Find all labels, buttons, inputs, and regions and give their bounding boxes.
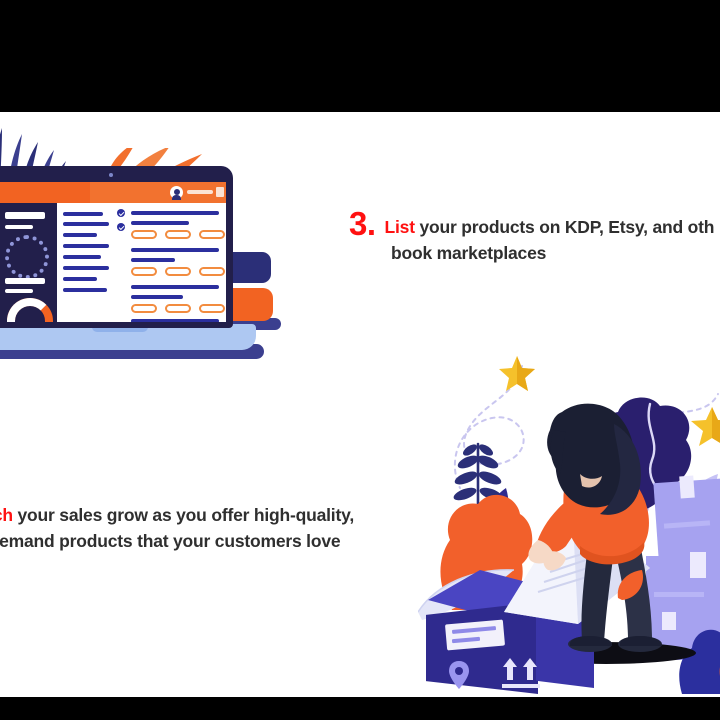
dashboard-sidebar xyxy=(0,203,57,322)
content-label-1 xyxy=(63,212,103,216)
content-chip-1-1[interactable] xyxy=(131,230,157,239)
content-row-2-line-1 xyxy=(131,248,219,252)
content-chip-1-2[interactable] xyxy=(165,230,191,239)
step-line-2-text: book marketplaces xyxy=(391,241,720,266)
content-chip-3-2[interactable] xyxy=(165,304,191,313)
content-label-2 xyxy=(63,222,109,226)
content-chip-1-3[interactable] xyxy=(199,230,225,239)
illustration-canvas: 3. List your products on KDP, Etsy, and … xyxy=(0,112,720,697)
laptop-illustration xyxy=(0,126,290,376)
dashboard-content xyxy=(57,203,226,322)
step-line-1: 3. List your products on KDP, Etsy, and … xyxy=(349,208,720,240)
step-line-1-rest: your products on KDP, Etsy, and oth xyxy=(415,217,714,237)
content-label-5 xyxy=(63,255,101,259)
packing-illustration xyxy=(418,356,720,697)
outcome-line-1: Watch your sales grow as you offer high-… xyxy=(0,503,432,528)
outcome-highlight-word: Watch xyxy=(0,505,13,525)
content-label-7 xyxy=(63,277,97,281)
content-chip-2-1[interactable] xyxy=(131,267,157,276)
step-line-1-text: List your products on KDP, Etsy, and oth xyxy=(385,208,715,240)
letterbox-top xyxy=(0,0,720,112)
outcome-line-2: on-demand products that your customers l… xyxy=(0,529,432,554)
outcome-line-1-rest: your sales grow as you offer high-qualit… xyxy=(13,505,354,525)
webcam-icon xyxy=(109,173,113,177)
outcome-text-block: Watch your sales grow as you offer high-… xyxy=(0,503,432,554)
content-row-3-line-1 xyxy=(131,285,219,289)
sidebar-block-4 xyxy=(5,289,33,293)
content-label-8 xyxy=(63,288,107,292)
letterbox-bottom xyxy=(0,697,720,720)
checkbox-checked-1[interactable] xyxy=(117,209,125,217)
laptop-screen xyxy=(0,182,226,322)
donut-chart-dotted xyxy=(5,235,49,279)
location-pin-icon xyxy=(448,660,470,690)
content-row-3-line-2 xyxy=(131,295,183,299)
content-chip-2-2[interactable] xyxy=(165,267,191,276)
step-text-block: 3. List your products on KDP, Etsy, and … xyxy=(349,208,720,266)
content-row-1-line-2 xyxy=(131,221,189,225)
content-chip-3-3[interactable] xyxy=(199,304,225,313)
donut-chart-white-segment xyxy=(7,298,53,322)
content-chip-3-1[interactable] xyxy=(131,304,157,313)
topbar-search-pill xyxy=(187,190,213,194)
orange-leaf-small xyxy=(614,568,650,602)
screenshot-stage: 3. List your products on KDP, Etsy, and … xyxy=(0,0,720,720)
content-row-4-line-1 xyxy=(131,319,219,322)
content-chip-2-3[interactable] xyxy=(199,267,225,276)
content-label-4 xyxy=(63,244,109,248)
sidebar-block-2 xyxy=(5,225,33,229)
hamburger-menu-icon xyxy=(216,187,224,197)
content-label-3 xyxy=(63,233,97,237)
step-highlight-word: List xyxy=(385,217,415,237)
user-avatar-icon xyxy=(170,186,183,199)
content-label-6 xyxy=(63,266,109,270)
content-row-2-line-2 xyxy=(131,258,175,262)
checkbox-checked-2[interactable] xyxy=(117,223,125,231)
person-packing xyxy=(518,394,698,664)
content-row-1-line-1 xyxy=(131,211,219,215)
sidebar-block-1 xyxy=(5,212,45,219)
sidebar-block-3 xyxy=(5,278,45,284)
laptop-lid xyxy=(0,166,233,328)
step-number: 3. xyxy=(349,208,376,239)
shipping-label xyxy=(445,620,505,651)
laptop-device xyxy=(0,166,233,361)
